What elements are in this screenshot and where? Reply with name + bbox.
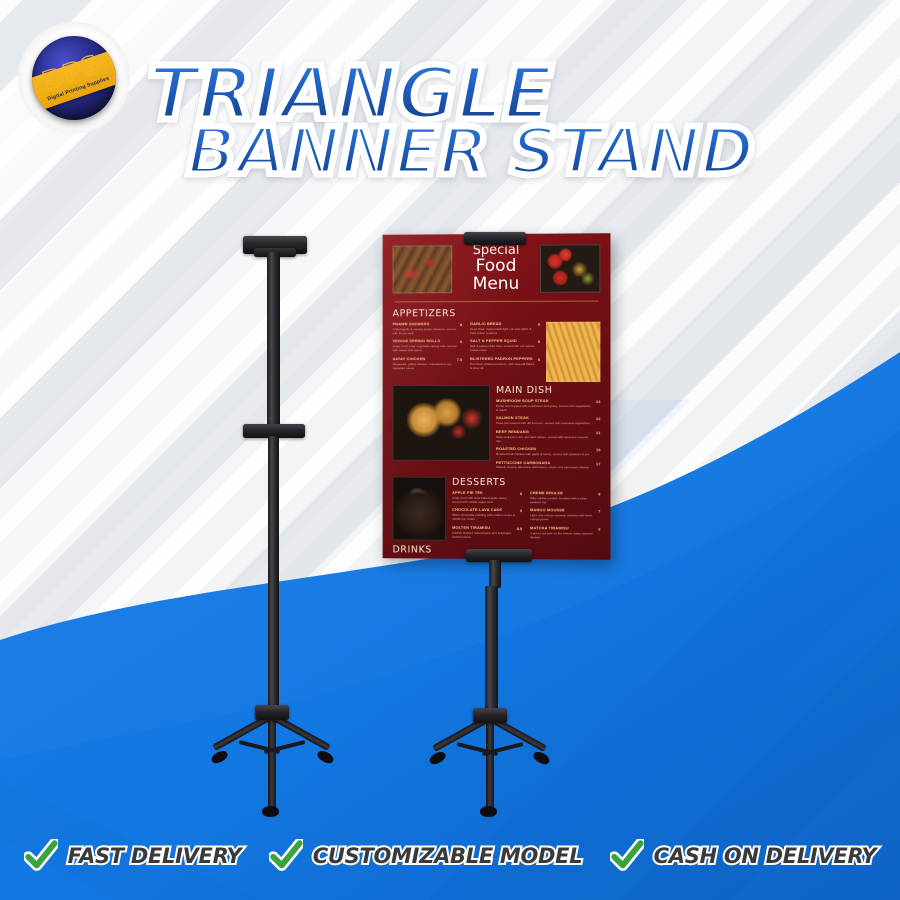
section-title-desserts: DESSERTS bbox=[452, 477, 600, 489]
menu-item: SALT & PEPPER SQUIDSalt & pepper fillet … bbox=[470, 339, 540, 352]
section-title-appetizers: APPETIZERS bbox=[393, 308, 601, 320]
menu-item: CHOCOLATE LAVA CAKEWarm chocolate puddin… bbox=[452, 508, 522, 521]
desserts-column-1: APPLE PIE TEECrisp crust with slow baked… bbox=[452, 491, 522, 544]
menu-item: MATCHA TIRAMISUA green tea take on the c… bbox=[530, 526, 600, 539]
promo-banner: DPS Digital Printing Supplies TRIANGLE B… bbox=[0, 0, 900, 900]
feature-customizable-model: CUSTOMIZABLE MODEL bbox=[269, 839, 583, 873]
logo-disc: DPS Digital Printing Supplies bbox=[32, 36, 116, 120]
feature-label: CUSTOMIZABLE MODEL bbox=[313, 844, 583, 868]
menu-item: MUSHROOM SOUP STEAKPrime cuts topped wit… bbox=[496, 399, 600, 412]
left-stand-upper-pole bbox=[267, 252, 280, 438]
check-icon bbox=[24, 839, 58, 873]
section-title-main-dish: MAIN DISH bbox=[496, 385, 600, 396]
poster-image-chicken bbox=[393, 385, 490, 461]
menu-item: BLISTERED PADRON PEPPERSPan fried, charr… bbox=[470, 357, 540, 370]
menu-item: GARLIC BREADOven fired, topped with ligh… bbox=[470, 322, 540, 335]
menu-item: SATAY CHICKENSkewered, grilled chicken, … bbox=[393, 357, 463, 370]
feature-label: CASH ON DELIVERY bbox=[654, 844, 877, 868]
appetizers-column-1: PRAWN SKEWERSGrilled garlic & parsley pr… bbox=[393, 322, 463, 382]
poster-header-image-right bbox=[540, 244, 600, 292]
menu-item: PRAWN SKEWERSGrilled garlic & parsley pr… bbox=[393, 322, 463, 335]
left-stand-hub bbox=[255, 705, 289, 720]
check-icon bbox=[269, 839, 303, 873]
poster-divider-top bbox=[395, 301, 599, 303]
poster-header-image-left bbox=[393, 245, 453, 293]
feature-bar: FAST DELIVERY CUSTOMIZABLE MODEL CASH ON… bbox=[0, 812, 900, 900]
poster-image-fries bbox=[546, 322, 600, 382]
menu-item: BEEF RENDANGSlow cooked in rich, aromati… bbox=[496, 430, 600, 443]
right-stand-leg-center bbox=[486, 716, 494, 816]
poster-title-line-2: Food Menu bbox=[452, 258, 540, 294]
appetizers-column-2: GARLIC BREADOven fired, topped with ligh… bbox=[470, 322, 540, 382]
poster-image-dessert bbox=[393, 477, 447, 541]
right-stand-clamp-neck bbox=[489, 560, 501, 588]
check-icon bbox=[610, 839, 644, 873]
menu-item: APPLE PIE TEECrisp crust with slow baked… bbox=[452, 491, 522, 504]
desserts-column-2: CREME BRULEESilky vanilla custard, brush… bbox=[530, 491, 600, 544]
menu-item: VEGGIE SPRING ROLLSCrisp, fresh crisp ve… bbox=[393, 339, 463, 352]
menu-item: MANGO MOUSSELight, airy mango mousse, fi… bbox=[530, 509, 600, 522]
left-stand-leg-center bbox=[268, 712, 276, 816]
menu-item: CREME BRULEESilky vanilla custard, brush… bbox=[530, 491, 600, 504]
right-stand-top-clamp bbox=[464, 232, 526, 245]
poster-header-title: Special Food Menu bbox=[452, 244, 540, 294]
feature-fast-delivery: FAST DELIVERY bbox=[24, 839, 242, 873]
menu-item: FETTUCCINE CARBONARAClassic creamy fettu… bbox=[496, 461, 600, 470]
feature-cash-on-delivery: CASH ON DELIVERY bbox=[610, 839, 877, 873]
menu-poster: Special Food Menu APPETIZERS PRAWN SKEWE… bbox=[383, 233, 611, 560]
poster-header: Special Food Menu bbox=[393, 242, 601, 295]
right-stand-hub bbox=[473, 708, 507, 723]
brand-logo: DPS Digital Printing Supplies bbox=[18, 22, 130, 134]
menu-item: ROASTED CHICKENRoasted half chicken with… bbox=[496, 447, 600, 456]
right-stand-pole bbox=[485, 586, 498, 720]
menu-item: MOLTEN TIRAMISUClassic layered mascarpon… bbox=[452, 526, 522, 539]
menu-item: SALMON STEAKOven pan seared with dill & … bbox=[496, 416, 600, 425]
feature-label: FAST DELIVERY bbox=[68, 844, 242, 868]
left-stand-lower-pole bbox=[268, 436, 279, 716]
